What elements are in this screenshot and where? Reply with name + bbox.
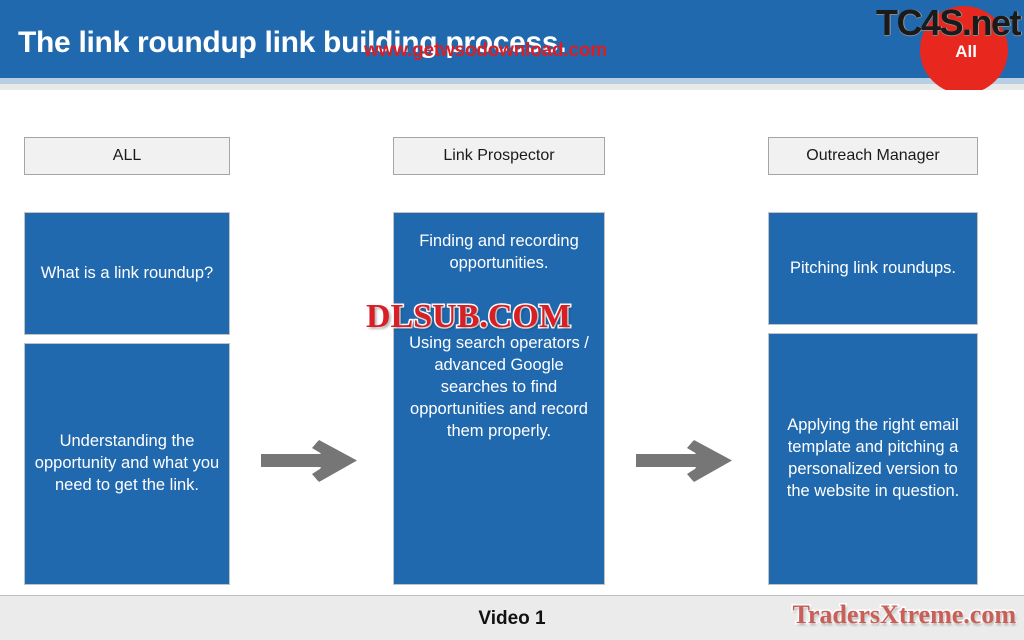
- watermark-overlay: DLSUB.COM: [366, 298, 571, 336]
- role-label-all: ALL: [24, 137, 230, 175]
- logo-text: TC4S.net: [876, 2, 1020, 44]
- task-card: What is a link roundup?: [24, 212, 230, 335]
- arrow-right-icon: [261, 439, 359, 483]
- task-card-text: Finding and recording opportunities.: [402, 231, 596, 275]
- site-logo: TC4S.net All: [820, 0, 1020, 100]
- logo-badge-label: All: [955, 42, 977, 62]
- task-card: Applying the right email template and pi…: [768, 333, 978, 585]
- watermark-header: www.getwsodownload.com: [364, 40, 607, 62]
- role-label-outreach-manager: Outreach Manager: [768, 137, 978, 175]
- arrow-right-icon: [636, 439, 734, 483]
- role-label-link-prospector: Link Prospector: [393, 137, 605, 175]
- slide-body: ALL What is a link roundup? Understandin…: [0, 90, 1024, 595]
- task-card: Understanding the opportunity and what y…: [24, 343, 230, 585]
- task-card-text: Using search operators / advanced Google…: [402, 333, 596, 443]
- task-card-group: Finding and recording opportunities. Usi…: [393, 212, 605, 585]
- task-card: Pitching link roundups.: [768, 212, 978, 325]
- watermark-footer: TradersXtreme.com: [792, 600, 1016, 630]
- slide-footer: Video 1 TradersXtreme.com: [0, 595, 1024, 640]
